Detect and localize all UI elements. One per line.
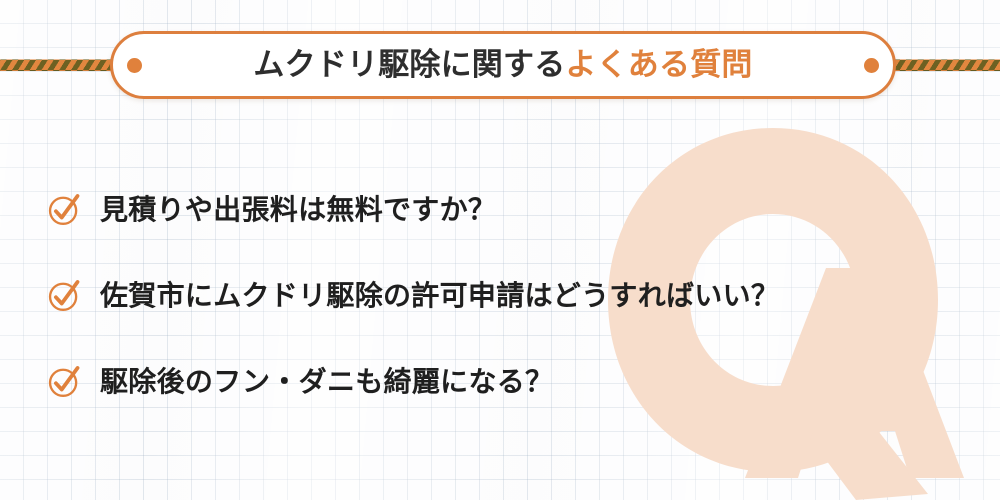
faq-list: 見積りや出張料は無料ですか？ 佐賀市にムクドリ駆除の許可申請はどうすればいい？ … bbox=[46, 178, 976, 436]
check-circle-icon bbox=[46, 277, 82, 313]
page-title-plain: ムクドリ駆除に関する bbox=[253, 47, 565, 82]
list-item[interactable]: 駆除後のフン・ダニも綺麗になる？ bbox=[46, 350, 976, 414]
faq-question-text: 佐賀市にムクドリ駆除の許可申請はどうすればいい？ bbox=[100, 280, 779, 312]
list-item[interactable]: 佐賀市にムクドリ駆除の許可申請はどうすればいい？ bbox=[46, 264, 976, 328]
page-title-accent: よくある質問 bbox=[565, 47, 752, 82]
banner-dot-right-icon bbox=[864, 58, 879, 73]
faq-banner-canvas: ムクドリ駆除に関するよくある質問 見積りや出張料は無料ですか？ 佐賀市にムクドリ… bbox=[0, 0, 1000, 500]
check-circle-icon bbox=[46, 363, 82, 399]
faq-question-text: 見積りや出張料は無料ですか？ bbox=[100, 194, 496, 226]
list-item[interactable]: 見積りや出張料は無料ですか？ bbox=[46, 178, 976, 242]
banner-dot-left-icon bbox=[127, 58, 142, 73]
faq-question-text: 駆除後のフン・ダニも綺麗になる？ bbox=[100, 366, 553, 398]
page-title: ムクドリ駆除に関するよくある質問 bbox=[253, 49, 752, 82]
title-banner: ムクドリ駆除に関するよくある質問 bbox=[110, 31, 896, 99]
check-circle-icon bbox=[46, 191, 82, 227]
